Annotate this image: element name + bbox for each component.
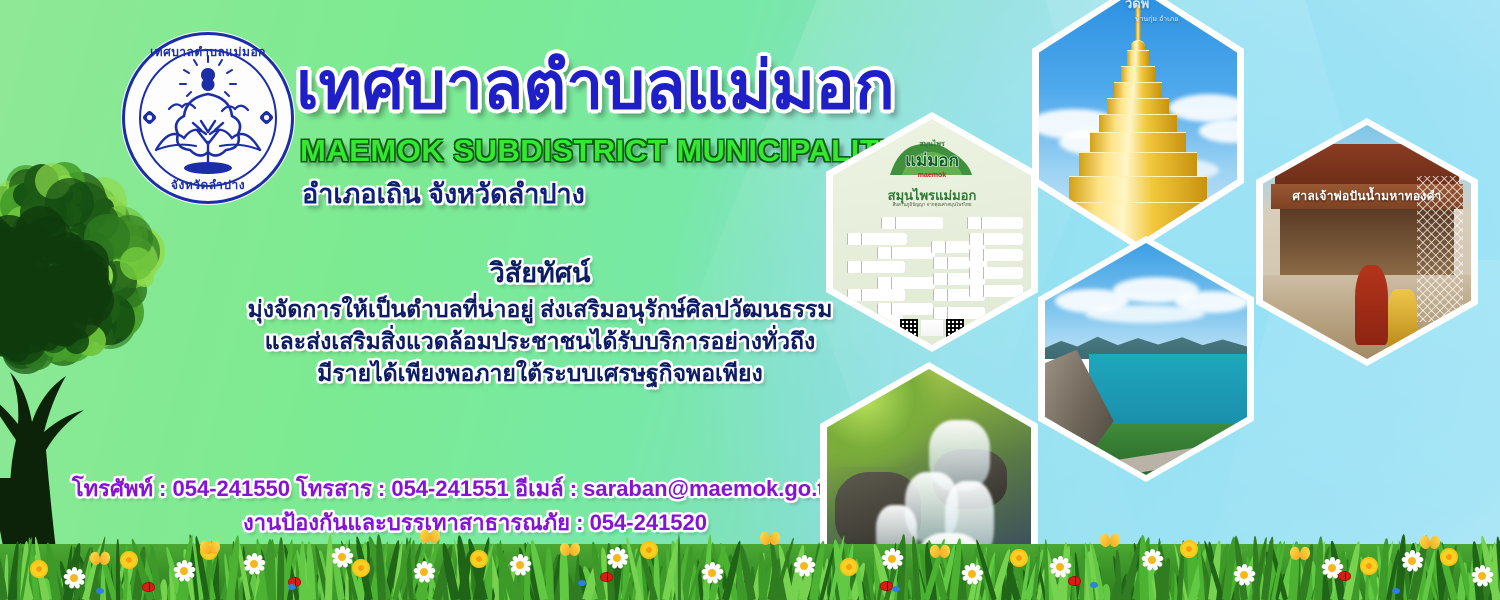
blue-insect [288,584,296,590]
blue-insect [96,588,104,594]
vision-line-2: และส่งเสริมสิ่งแวดล้อมประชาชนได้รับบริกา… [190,325,890,357]
sun-disc [202,78,215,91]
golden-chedi [1063,8,1213,243]
dam-image [1045,243,1247,475]
butterfly [760,532,780,546]
shrine-statue [1355,265,1388,345]
yellow-flower [840,558,858,576]
yellow-flower [470,550,488,568]
ladybug [142,582,155,592]
hex-inner: สมุนไพร แม่มอก maemok สมุนไพรแม่มอก สืบส… [833,119,1031,345]
blue-insect [1392,588,1400,594]
daisy-flower [1232,563,1256,587]
vision-line-1: มุ่งจัดการให้เป็นตำบลที่น่าอยู่ ส่งเสริม… [190,293,890,325]
daisy-flower [172,559,196,583]
daisy-flower [880,547,904,571]
hex-photo-shrine[interactable]: ศาลเจ้าพ่อปันน้ำมหาทองคำ [1256,118,1478,366]
herb-product-grid [847,211,1017,321]
pagoda-label-secondary: บ้านกุ่ม อำเภอ [1135,15,1178,25]
svg-text:แม่มอก: แม่มอก [905,151,959,170]
daisy-flower [960,562,984,586]
butterfly [200,541,220,555]
daisy-flower [1470,564,1494,588]
vision-heading: วิสัยทัศน์ [190,256,890,290]
hex-inner: ศาลเจ้าพ่อปันน้ำมหาทองคำ [1263,125,1471,359]
pagoda-image: วัดพ บ้านกุ่ม อำเภอ [1039,0,1237,243]
butterfly [90,552,110,566]
herb-poster-image: สมุนไพร แม่มอก maemok สมุนไพรแม่มอก สืบส… [833,119,1031,345]
yellow-flower [1440,548,1458,566]
qr-code [900,319,964,337]
shrine-offering [1388,289,1417,350]
hex-inner: วัดพ บ้านกุ่ม อำเภอ [1039,0,1237,243]
butterfly [1420,536,1440,550]
yellow-flower [1360,557,1378,575]
seal-artwork [122,32,294,204]
page-title-thai: เทศบาลตำบลแม่มอก [296,52,895,118]
svg-text:maemok: maemok [918,172,947,179]
butterfly [420,530,440,544]
blue-insect [578,580,586,586]
hex-photo-pagoda[interactable]: วัดพ บ้านกุ่ม อำเภอ [1032,0,1244,250]
municipality-banner: เทศบาลตำบลแม่มอก จังหวัดลำปาง [0,0,1500,600]
ladybug [1068,576,1081,586]
page-subtitle-thai: อำเภอเถิน จังหวัดลำปาง [302,172,585,215]
daisy-flower [330,545,354,569]
butterfly [560,543,580,557]
daisy-flower [412,560,436,584]
daisy-flower [700,561,724,585]
municipality-seal: เทศบาลตำบลแม่มอก จังหวัดลำปาง [122,32,294,204]
tree-foliage [120,247,153,280]
daisy-flower [62,566,86,590]
ladybug [880,581,893,591]
yellow-flower [1180,540,1198,558]
yellow-flower [640,541,658,559]
daisy-flower [792,554,816,578]
grass-flower-border [0,522,1500,600]
butterfly [930,545,950,559]
butterfly [1100,534,1120,548]
yellow-flower [352,559,370,577]
hex-inner [1045,243,1247,475]
svg-text:สมุนไพร: สมุนไพร [919,139,945,148]
daisy-flower [242,552,266,576]
blue-insect [1090,582,1098,588]
maemok-herb-logo: สมุนไพร แม่มอก maemok [880,135,984,183]
daisy-flower [1048,555,1072,579]
page-title-english: MAEMOK SUBDISTRICT MUNICIPALITY [300,133,900,169]
cloud [1085,305,1205,323]
yellow-flower [1010,549,1028,567]
vision-line-3: มีรายได้เพียงพอภายใต้ระบบเศรษฐกิจพอเพียง [190,357,890,389]
shrine-mesh-gate [1417,176,1463,321]
yellow-flower [30,560,48,578]
pagoda-label: วัดพ [1125,0,1149,14]
butterfly [1290,547,1310,561]
contact-line-phone-fax-email: โทรศัพท์ : 054-241550 โทรสาร : 054-24155… [60,472,850,506]
vision-block: วิสัยทัศน์ มุ่งจัดการให้เป็นตำบลที่น่าอย… [190,256,890,389]
daisy-flower [1400,549,1424,573]
grass-blade [115,539,119,600]
daisy-flower [508,553,532,577]
hex-photo-dam[interactable] [1038,236,1254,482]
blue-insect [892,586,900,592]
daisy-flower [1140,548,1164,572]
shrine-image: ศาลเจ้าพ่อปันน้ำมหาทองคำ [1263,125,1471,359]
ladybug [600,572,613,582]
yellow-flower [120,551,138,569]
tree-foliage [10,229,54,273]
grass-blade [299,541,305,600]
daisy-flower [605,546,629,570]
herb-poster-subcaption: สืบสานภูมิปัญญา จากคุณค่าสมุนไพรไทย [833,201,1031,208]
ladybug [1338,571,1351,581]
